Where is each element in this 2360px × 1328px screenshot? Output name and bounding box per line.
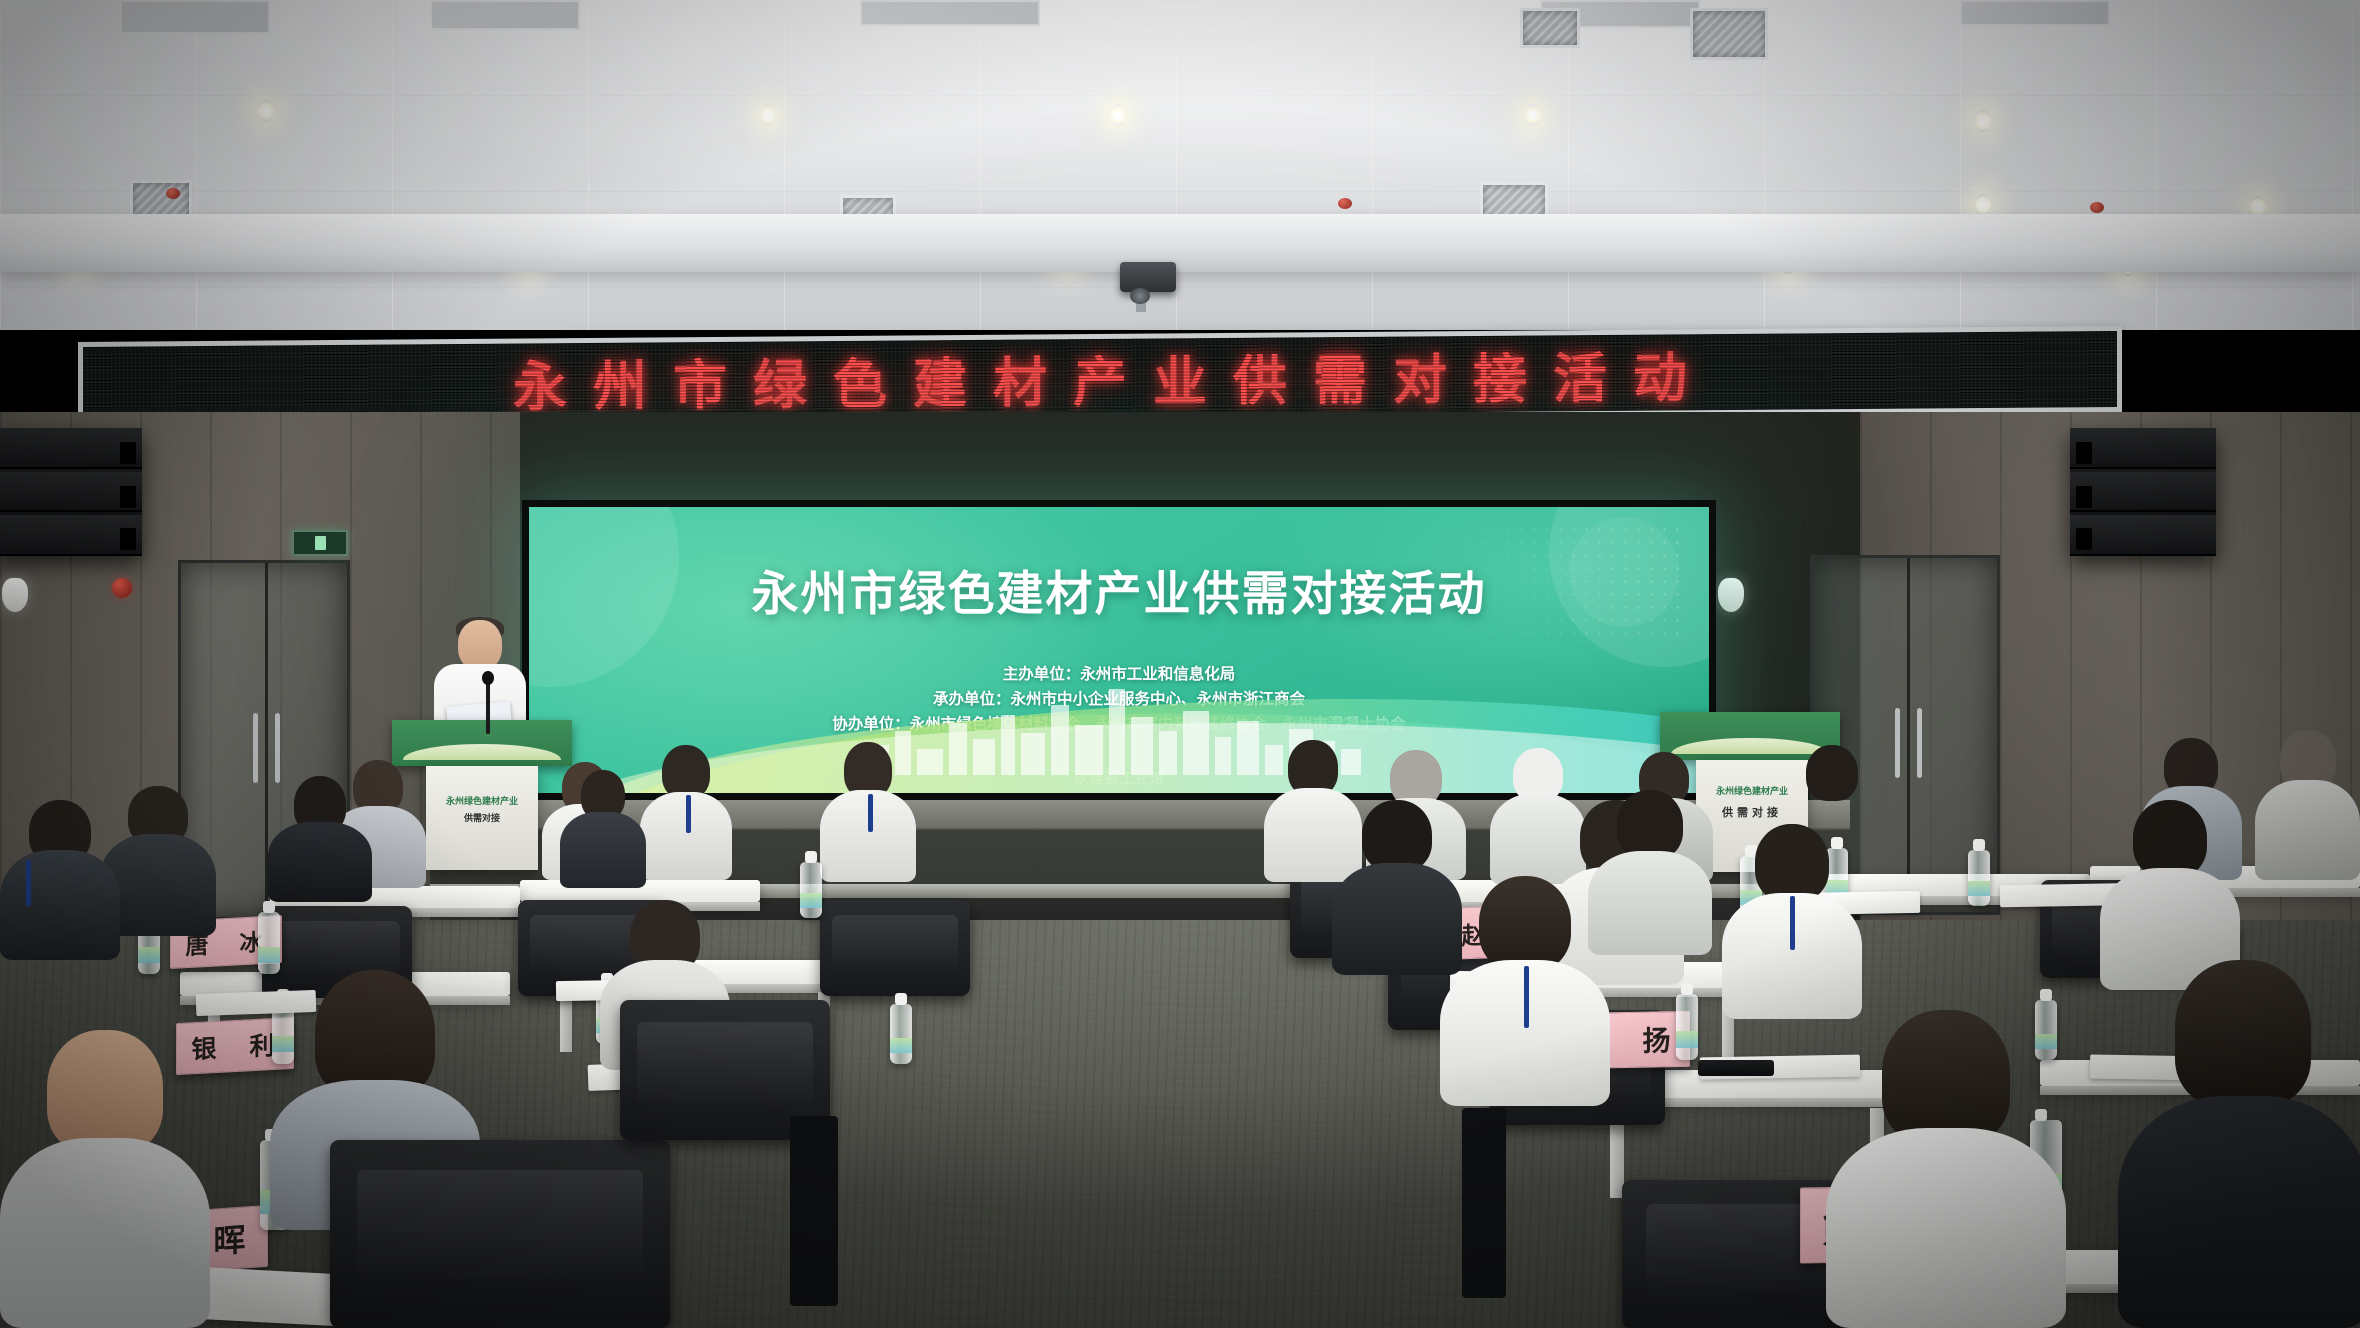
ceiling-tile xyxy=(1960,0,2110,26)
ceiling-downlight xyxy=(258,100,274,122)
wall-spotlight xyxy=(1718,578,1744,612)
speaker-port xyxy=(120,486,136,508)
smoke-detector xyxy=(1338,198,1352,209)
ceiling-tile xyxy=(430,0,580,30)
ceiling-downlight xyxy=(1975,110,1991,132)
attendee xyxy=(268,776,372,902)
attendee-body xyxy=(1826,1128,2066,1328)
lanyard xyxy=(686,795,691,833)
water-bottle[interactable] xyxy=(1968,850,1990,906)
water-bottle[interactable] xyxy=(800,862,822,918)
attendee-body xyxy=(560,812,646,888)
ceiling-soffit xyxy=(0,214,2360,272)
tablet-device[interactable] xyxy=(1698,1060,1774,1076)
smoke-detector xyxy=(166,188,180,199)
attendee xyxy=(640,745,732,880)
chair-base xyxy=(1462,1108,1506,1298)
speaker-port xyxy=(2076,486,2092,508)
lanyard xyxy=(1790,896,1795,950)
ceiling-tile xyxy=(120,0,270,34)
podium-left-sub: 供需对接 xyxy=(426,814,538,825)
air-vent xyxy=(1690,8,1768,60)
led-banner-panel: 永州市绿色建材产业供需对接活动 xyxy=(83,331,2117,423)
attendee xyxy=(0,800,120,960)
door-handle-icon[interactable] xyxy=(253,713,258,783)
smoke-detector xyxy=(2090,202,2104,213)
attendee xyxy=(0,1030,210,1328)
speaker-array-left xyxy=(0,428,142,556)
attendee-head xyxy=(1362,800,1432,872)
lanyard xyxy=(26,860,31,906)
door-handle-icon[interactable] xyxy=(1895,708,1900,778)
screen-title: 永州市绿色建材产业供需对接活动 xyxy=(529,555,1709,624)
attendee-body xyxy=(0,850,120,960)
ceiling-projector xyxy=(1120,262,1176,292)
projector-lens-icon xyxy=(1130,288,1150,304)
attendee xyxy=(2255,730,2360,880)
podium-left-body: 永州绿色建材产业 供需对接 xyxy=(426,766,538,870)
door-handle-icon[interactable] xyxy=(1917,708,1922,778)
attendee xyxy=(1722,824,1862,1019)
attendee xyxy=(1440,876,1610,1106)
ceiling-downlight xyxy=(1110,104,1126,126)
attendee-body xyxy=(268,822,372,902)
ceiling-downlight xyxy=(1975,194,1991,216)
speaker-array-right xyxy=(2070,428,2216,556)
attendee xyxy=(1826,1010,2066,1328)
speaker-port xyxy=(120,442,136,464)
exit-running-man-icon xyxy=(315,536,326,550)
attendee-head xyxy=(1755,824,1829,902)
attendee-body xyxy=(2118,1096,2360,1328)
podium-left-label: 永州绿色建材产业 xyxy=(426,794,538,807)
attendee xyxy=(560,770,646,888)
speaker-port xyxy=(2076,442,2092,464)
attendee-head xyxy=(315,970,435,1098)
ceiling xyxy=(0,0,2360,330)
attendee-head xyxy=(1479,876,1571,972)
ceiling-downlight xyxy=(760,104,776,126)
presenter-head xyxy=(458,620,502,670)
water-bottle[interactable] xyxy=(258,912,280,974)
chair[interactable] xyxy=(330,1140,670,1328)
attendee-head xyxy=(1617,790,1683,860)
door-seam xyxy=(1907,558,1910,912)
chair[interactable] xyxy=(820,900,970,996)
attendee-head xyxy=(2175,960,2311,1106)
exit-sign xyxy=(292,530,348,556)
lanyard xyxy=(868,794,873,832)
speaker-port xyxy=(120,528,136,550)
air-vent xyxy=(1520,8,1580,48)
conference-hall-photo: 永州市绿色建材产业供需对接活动 xyxy=(0,0,2360,1328)
ceiling-tile xyxy=(860,0,1040,26)
led-banner-text: 永州市绿色建材产业供需对接活动 xyxy=(487,333,1713,422)
chair-base xyxy=(790,1116,838,1306)
speaker-port xyxy=(2076,528,2092,550)
attendee-head xyxy=(1882,1010,2010,1144)
attendee-body xyxy=(0,1138,210,1328)
attendee-body xyxy=(2255,780,2360,880)
attendee-head xyxy=(47,1030,163,1154)
attendee-head xyxy=(662,745,710,799)
organizer-line: 主办单位：永州市工业和信息化局 xyxy=(529,662,1709,687)
wall-spotlight xyxy=(2,578,28,612)
ceiling-light-wash xyxy=(0,0,2360,330)
microphone-icon xyxy=(486,680,490,734)
door-handle-icon[interactable] xyxy=(275,713,280,783)
water-bottle[interactable] xyxy=(1676,994,1698,1060)
water-bottle[interactable] xyxy=(890,1004,912,1064)
lanyard xyxy=(1524,966,1529,1028)
ceiling-downlight xyxy=(1525,104,1541,126)
attendee xyxy=(820,742,916,882)
attendee xyxy=(2118,960,2360,1328)
attendee-head xyxy=(2133,800,2207,878)
alarm-bell-icon xyxy=(112,578,132,598)
